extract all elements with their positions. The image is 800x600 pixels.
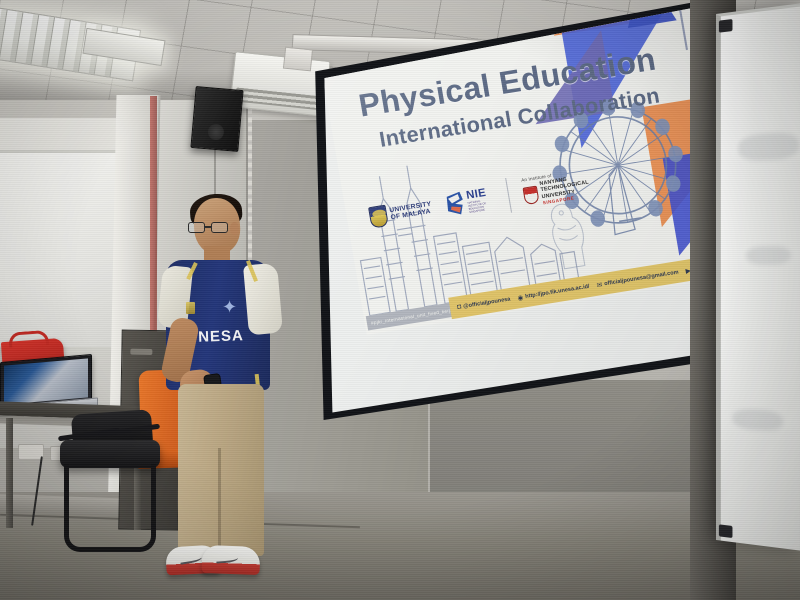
jersey-sleeve-right	[243, 263, 283, 336]
whiteboard-corner	[719, 524, 733, 538]
whiteboard-smudge	[738, 131, 799, 161]
logo-asosiasi-pjok: ASOSIASI PROFESI PJOK PENDIDIKAN JASMANI…	[508, 0, 557, 23]
cabinet-handle	[130, 349, 152, 355]
logo-circle-gold-icon	[387, 25, 405, 43]
university-of-malaya-logo: UNIVERSITY OF MALAYA	[368, 197, 434, 228]
logo-divider	[505, 178, 512, 213]
whiteboard-corner	[719, 19, 733, 33]
nie-mark-icon	[444, 190, 467, 217]
um-crest-icon	[368, 204, 389, 228]
whiteboard-smudge	[746, 246, 790, 265]
laptop-screen	[4, 358, 88, 404]
whiteboard-smudge	[732, 408, 782, 432]
projector-screen: UNIVERSITAS BRAWIJAYA ASOSIASI PROFESI P…	[290, 0, 710, 420]
swoosh-icon	[180, 554, 203, 564]
jersey-badge	[186, 302, 195, 314]
desk-leg	[6, 418, 13, 528]
logo-universitas-brawijaya: UNIVERSITAS BRAWIJAYA	[432, 12, 481, 35]
logo-circle-olive-icon	[485, 9, 503, 27]
presenter: ✦ NESA	[160, 198, 290, 598]
glasses-icon	[188, 222, 230, 233]
footer-website: ◉ http://jpo.fik.unesa.ac.id/	[517, 282, 590, 302]
globe-icon: ◉	[517, 293, 524, 302]
trouser-seam	[218, 448, 221, 556]
sneaker-right	[202, 545, 261, 575]
wall-speaker	[190, 86, 243, 152]
presenter-trousers	[178, 384, 264, 556]
presentation-slide: UNIVERSITAS BRAWIJAYA ASOSIASI PROFESI P…	[312, 0, 710, 335]
nie-logo: NIE NATIONAL INSTITUTE OF EDUCATION SING…	[444, 185, 496, 217]
classroom-photo: UNIVERSITAS BRAWIJAYA ASOSIASI PROFESI P…	[0, 0, 800, 600]
presenter-ear	[230, 222, 239, 235]
envelope-icon: ✉	[596, 280, 603, 289]
ntu-crest-icon	[522, 185, 539, 205]
footer-instagram: ◘ @officialjpounesa	[457, 295, 511, 311]
swoosh-icon	[216, 555, 238, 564]
speaker-cone	[207, 123, 224, 140]
logo-circle-teal-icon	[410, 21, 428, 39]
instagram-icon: ◘	[457, 303, 462, 311]
chair-sled-base	[64, 464, 156, 552]
jersey-emblem-icon: ✦	[222, 298, 244, 318]
black-visitor-chair	[56, 412, 164, 562]
um-wordmark: UNIVERSITY OF MALAYA	[389, 200, 433, 221]
screen-surface: UNIVERSITAS BRAWIJAYA ASOSIASI PROFESI P…	[290, 0, 710, 420]
ntu-logo: An Institute of NANYANG TECHNOLOGICAL UN…	[521, 167, 592, 208]
footer-email: ✉ officialjpounesa@gmail.com	[596, 268, 679, 289]
whiteboard-right	[716, 3, 800, 550]
whiteboard-left	[0, 150, 124, 350]
logo-circle-blue-icon	[365, 28, 383, 46]
